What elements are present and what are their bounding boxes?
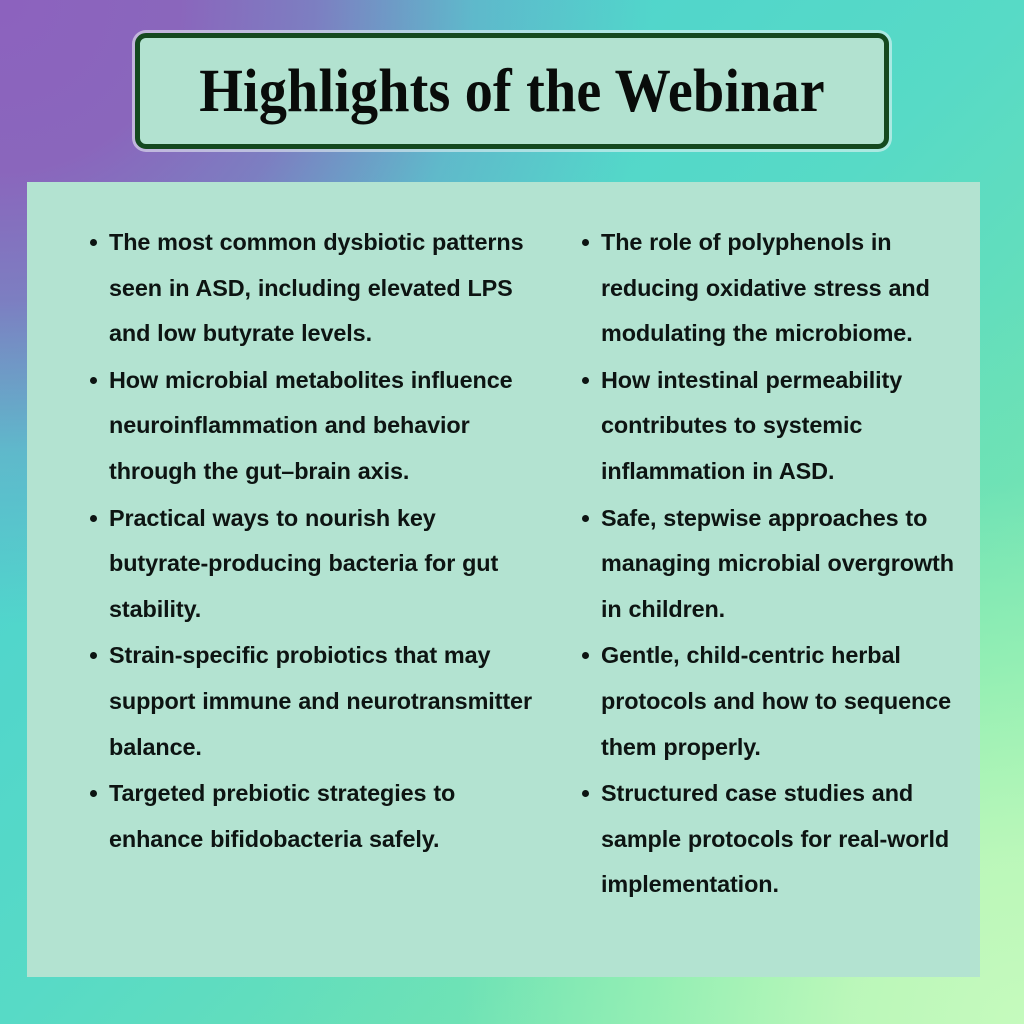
bullet-dot-icon xyxy=(582,790,589,797)
list-item: How microbial metabolites influence neur… xyxy=(82,358,537,495)
bullet-list-left: The most common dysbiotic patterns seen … xyxy=(82,220,537,862)
bullet-dot-icon xyxy=(90,790,97,797)
bullet-dot-icon xyxy=(582,652,589,659)
slide-canvas: Highlights of the Webinar The most commo… xyxy=(0,0,1024,1024)
list-item: Practical ways to nourish key butyrate-p… xyxy=(82,496,537,633)
list-item-text: How intestinal permeability contributes … xyxy=(601,367,902,484)
bullet-dot-icon xyxy=(90,515,97,522)
title-box: Highlights of the Webinar xyxy=(135,33,889,149)
list-item: How intestinal permeability contributes … xyxy=(575,358,972,495)
list-item-text: Practical ways to nourish key butyrate-p… xyxy=(109,505,498,622)
bullet-dot-icon xyxy=(582,239,589,246)
bullet-dot-icon xyxy=(90,239,97,246)
list-item: The most common dysbiotic patterns seen … xyxy=(82,220,537,357)
list-item-text: Safe, stepwise approaches to managing mi… xyxy=(601,505,954,622)
bullet-dot-icon xyxy=(90,652,97,659)
bullet-dot-icon xyxy=(582,377,589,384)
content-panel: The most common dysbiotic patterns seen … xyxy=(27,182,980,977)
bullet-column-right: The role of polyphenols in reducing oxid… xyxy=(547,208,980,977)
list-item-text: Targeted prebiotic strategies to enhance… xyxy=(109,780,455,852)
bullet-dot-icon xyxy=(90,377,97,384)
list-item: Targeted prebiotic strategies to enhance… xyxy=(82,771,537,862)
list-item-text: Gentle, child-centric herbal protocols a… xyxy=(601,642,951,759)
list-item: Structured case studies and sample proto… xyxy=(575,771,972,908)
list-item: Strain-specific probiotics that may supp… xyxy=(82,633,537,770)
bullet-dot-icon xyxy=(582,515,589,522)
list-item-text: Structured case studies and sample proto… xyxy=(601,780,949,897)
list-item: Safe, stepwise approaches to managing mi… xyxy=(575,496,972,633)
page-title: Highlights of the Webinar xyxy=(199,61,825,122)
list-item-text: The most common dysbiotic patterns seen … xyxy=(109,229,524,346)
bullet-list-right: The role of polyphenols in reducing oxid… xyxy=(575,220,972,908)
bullet-column-left: The most common dysbiotic patterns seen … xyxy=(27,208,547,977)
list-item-text: How microbial metabolites influence neur… xyxy=(109,367,513,484)
list-item: Gentle, child-centric herbal protocols a… xyxy=(575,633,972,770)
list-item-text: The role of polyphenols in reducing oxid… xyxy=(601,229,930,346)
list-item: The role of polyphenols in reducing oxid… xyxy=(575,220,972,357)
list-item-text: Strain-specific probiotics that may supp… xyxy=(109,642,532,759)
